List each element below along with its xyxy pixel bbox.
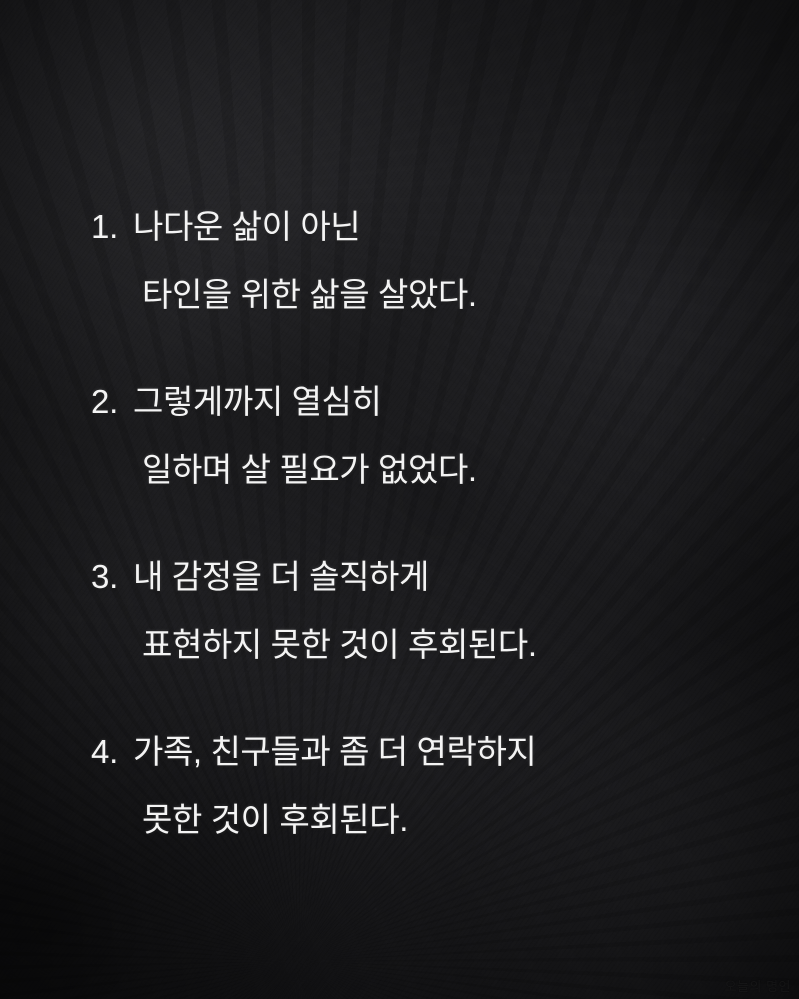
list-item-text: 그렇게까지 열심히 일하며 살 필요가 없었다.	[133, 368, 759, 504]
list-item-number: 2.	[91, 368, 133, 436]
list-item: 2. 그렇게까지 열심히 일하며 살 필요가 없었다.	[91, 368, 759, 504]
list-item-line-1: 나다운 삶이 아닌	[133, 193, 759, 261]
list-item-text: 가족, 친구들과 좀 더 연락하지 못한 것이 후회된다.	[133, 718, 759, 854]
list-item: 1. 나다운 삶이 아닌 타인을 위한 삶을 살았다.	[91, 193, 759, 329]
list-item-line-2: 못한 것이 후회된다.	[133, 786, 759, 854]
list-item-line-2: 타인을 위한 삶을 살았다.	[133, 261, 759, 329]
list-item-number: 1.	[91, 193, 133, 261]
list-item-number: 3.	[91, 543, 133, 611]
list-item-line-2: 표현하지 못한 것이 후회된다.	[133, 611, 759, 679]
list-item-line-2: 일하며 살 필요가 없었다.	[133, 436, 759, 504]
list-item-number: 4.	[91, 718, 133, 786]
content-area: 1. 나다운 삶이 아닌 타인을 위한 삶을 살았다. 2. 그렇게까지 열심히…	[0, 0, 799, 999]
list-item-line-1: 가족, 친구들과 좀 더 연락하지	[133, 718, 759, 786]
list-item-line-1: 그렇게까지 열심히	[133, 368, 759, 436]
list-item: 4. 가족, 친구들과 좀 더 연락하지 못한 것이 후회된다.	[91, 718, 759, 854]
quote-card: 1. 나다운 삶이 아닌 타인을 위한 삶을 살았다. 2. 그렇게까지 열심히…	[0, 0, 799, 999]
regret-list: 1. 나다운 삶이 아닌 타인을 위한 삶을 살았다. 2. 그렇게까지 열심히…	[91, 193, 759, 854]
list-item-text: 나다운 삶이 아닌 타인을 위한 삶을 살았다.	[133, 193, 759, 329]
list-item-text: 내 감정을 더 솔직하게 표현하지 못한 것이 후회된다.	[133, 543, 759, 679]
list-item: 3. 내 감정을 더 솔직하게 표현하지 못한 것이 후회된다.	[91, 543, 759, 679]
watermark: 오늘의 명언	[725, 976, 791, 995]
list-item-line-1: 내 감정을 더 솔직하게	[133, 543, 759, 611]
